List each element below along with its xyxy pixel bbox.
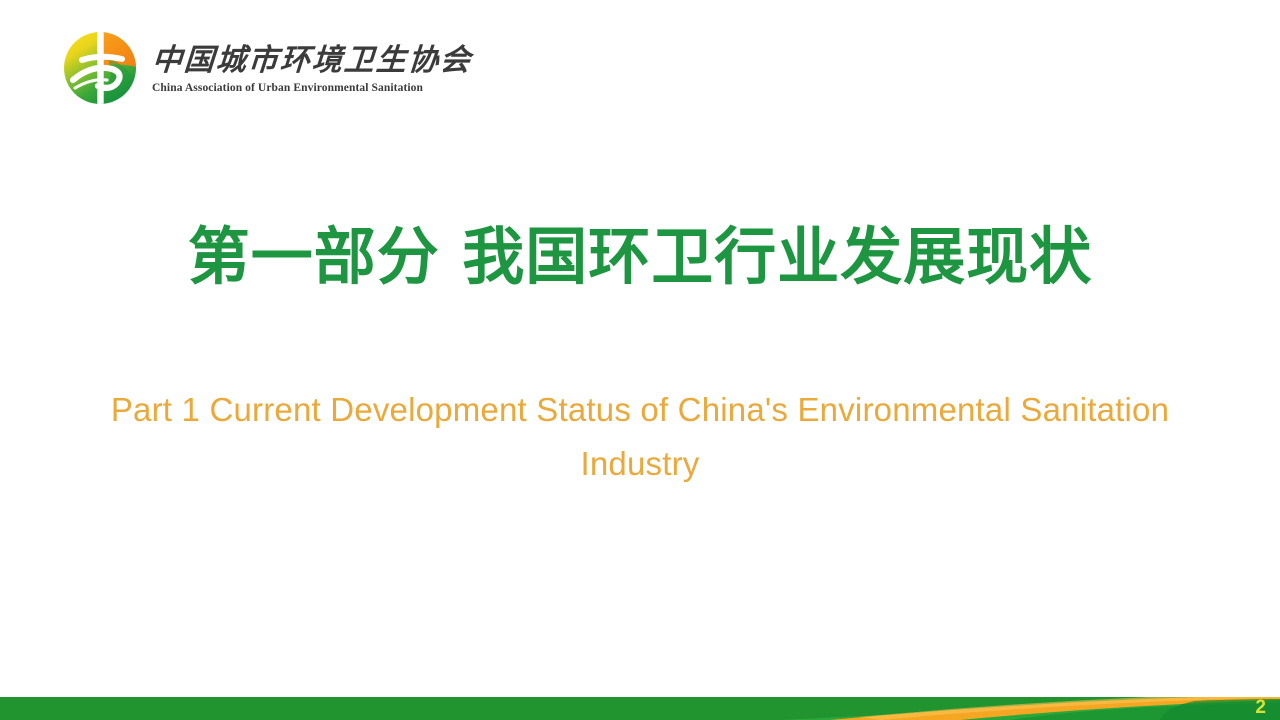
footer-swoosh-graphic xyxy=(0,697,1280,720)
logo-wordmark: 中国城市环境卫生协会 China Association of Urban En… xyxy=(152,28,472,95)
organization-logo: 中国城市环境卫生协会 China Association of Urban En… xyxy=(62,28,472,106)
logo-chinese-name: 中国城市环境卫生协会 xyxy=(151,44,473,78)
logo-english-name: China Association of Urban Environmental… xyxy=(152,81,472,95)
footer-decorative-bar: 2 xyxy=(0,697,1280,720)
section-headline-chinese: 第一部分 我国环卫行业发展现状 xyxy=(0,214,1280,300)
page-number: 2 xyxy=(1255,697,1266,719)
logo-emblem-icon xyxy=(62,28,138,106)
slide-canvas: 中国城市环境卫生协会 China Association of Urban En… xyxy=(0,0,1280,720)
section-subtitle-english: Part 1 Current Development Status of Chi… xyxy=(110,383,1170,491)
